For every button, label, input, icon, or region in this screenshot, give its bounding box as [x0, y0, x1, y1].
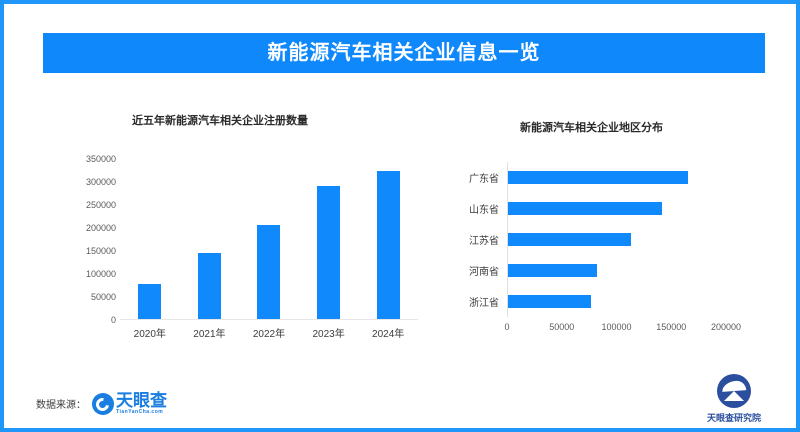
category-label: 河南省: [436, 263, 507, 278]
vertical-chart-plot-area: [120, 159, 420, 320]
page-title: 新能源汽车相关企业信息一览: [268, 43, 541, 63]
tianyancha-eye-icon: [92, 393, 114, 415]
bar: [198, 253, 221, 319]
bar-column: [120, 159, 180, 319]
research-institute-label: 天眼查研究院: [707, 411, 761, 424]
bar-track: [507, 224, 726, 255]
bar: [507, 233, 631, 246]
chart-panel-regions: 新能源汽车相关企业地区分布 广东省山东省江苏省河南省浙江省 0500001000…: [436, 99, 786, 364]
bar-column: [180, 159, 240, 319]
data-source-label: 数据来源：: [36, 396, 86, 411]
x-axis-category-label: 2021年: [180, 325, 240, 340]
y-axis-line: [507, 162, 508, 317]
y-axis-tick-label: 300000: [86, 177, 116, 187]
x-axis-tick-label: 150000: [656, 322, 686, 332]
bar: [138, 284, 161, 319]
bar: [377, 171, 400, 319]
x-axis-tick-label: 200000: [711, 322, 741, 332]
x-axis-tick-label: 100000: [601, 322, 631, 332]
x-axis-category-label: 2024年: [358, 325, 418, 340]
y-axis-tick-label: 200000: [86, 223, 116, 233]
horizontal-bar-series: 广东省山东省江苏省河南省浙江省: [436, 162, 726, 317]
research-institute-brand: 天眼查研究院: [694, 374, 774, 424]
bar: [257, 225, 280, 319]
category-label: 广东省: [436, 170, 507, 185]
vertical-bar-chart: 0500001000001500002000002500003000003500…: [40, 159, 430, 339]
bar: [507, 171, 688, 184]
bar-track: [507, 286, 726, 317]
bar-column: [299, 159, 359, 319]
chart-title-regions: 新能源汽车相关企业地区分布: [520, 119, 663, 135]
y-axis-tick-label: 100000: [86, 269, 116, 279]
x-axis-tick-labels: 050000100000150000200000: [507, 322, 727, 336]
y-axis-tick-label: 150000: [86, 246, 116, 256]
x-axis-category-labels: 2020年2021年2022年2023年2024年: [120, 325, 418, 340]
chart-title-registrations: 近五年新能源汽车相关企业注册数量: [132, 112, 308, 128]
x-axis-baseline: [120, 319, 418, 320]
horizontal-bar-chart: 广东省山东省江苏省河南省浙江省 050000100000150000200000: [436, 162, 786, 347]
category-label: 江苏省: [436, 232, 507, 247]
bar-row: 河南省: [436, 255, 726, 286]
bar-column: [358, 159, 418, 319]
bar-track: [507, 255, 726, 286]
tianyancha-wordmark-cn: 天眼查: [116, 392, 167, 409]
y-axis-tick-labels: 0500001000001500002000002500003000003500…: [40, 159, 116, 320]
bar-column: [239, 159, 299, 319]
vertical-bar-series: [120, 159, 418, 319]
infographic-page: 新能源汽车相关企业信息一览 近五年新能源汽车相关企业注册数量 050000100…: [0, 0, 800, 432]
data-source: 数据来源： 天眼查 TianYanCha.com: [36, 392, 167, 415]
bar: [507, 264, 597, 277]
chart-panel-registrations: 近五年新能源汽车相关企业注册数量 05000010000015000020000…: [40, 99, 430, 364]
y-axis-tick-label: 250000: [86, 200, 116, 210]
bar-row: 山东省: [436, 193, 726, 224]
tianyancha-wordmark-en: TianYanCha.com: [116, 410, 167, 415]
bar-row: 浙江省: [436, 286, 726, 317]
x-axis-tick-label: 0: [504, 322, 509, 332]
research-institute-icon: [717, 374, 751, 408]
bar: [317, 186, 340, 319]
x-axis-category-label: 2020年: [120, 325, 180, 340]
bar-track: [507, 193, 726, 224]
x-axis-category-label: 2022年: [239, 325, 299, 340]
y-axis-tick-label: 350000: [86, 154, 116, 164]
bar-row: 广东省: [436, 162, 726, 193]
bar: [507, 295, 591, 308]
header-banner: 新能源汽车相关企业信息一览: [43, 33, 765, 73]
category-label: 山东省: [436, 201, 507, 216]
tianyancha-logo: 天眼查 TianYanCha.com: [92, 392, 167, 415]
bar: [507, 202, 662, 215]
y-axis-tick-label: 0: [111, 315, 116, 325]
x-axis-category-label: 2023年: [299, 325, 359, 340]
bar-track: [507, 162, 726, 193]
bar-row: 江苏省: [436, 224, 726, 255]
tianyancha-wordmark: 天眼查 TianYanCha.com: [116, 392, 167, 415]
y-axis-tick-label: 50000: [91, 292, 116, 302]
category-label: 浙江省: [436, 294, 507, 309]
x-axis-tick-label: 50000: [549, 322, 574, 332]
